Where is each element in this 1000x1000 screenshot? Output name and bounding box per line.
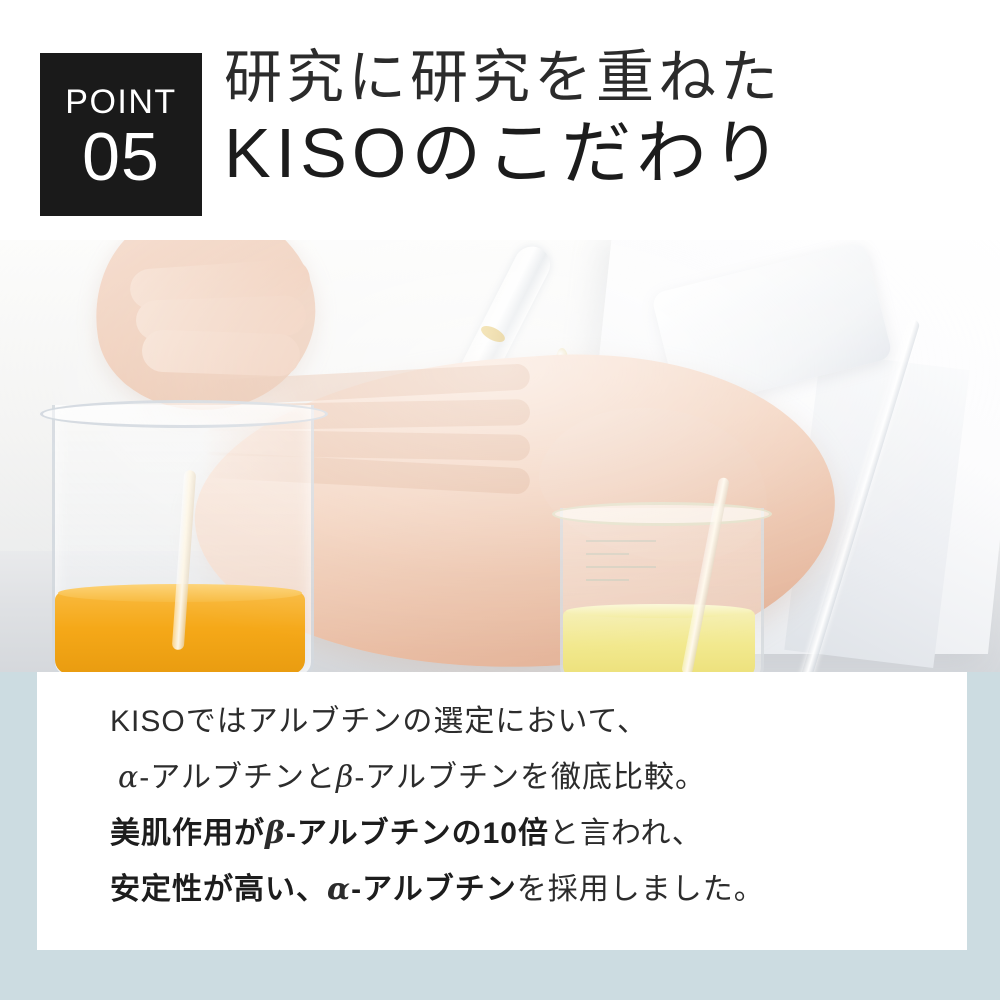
- point-05-promo-panel: POINT 05 研究に研究を重ねた KISOのこだわり: [0, 0, 1000, 1000]
- body-line-3-bold-mid: -アルブチンの10倍: [286, 817, 549, 850]
- body-line-3-tail: と言われ、: [549, 817, 703, 850]
- photo-scene: [0, 240, 1000, 672]
- body-copy: KISOではアルブチンの選定において、 α-アルブチンとβ-アルブチンを徹底比較…: [110, 694, 910, 918]
- body-line-2-tail: -アルブチンを徹底比較。: [354, 761, 706, 794]
- body-line-4-bold-mid: -アルブチン: [351, 873, 517, 906]
- alpha-symbol-line4: α: [327, 872, 351, 907]
- body-line-2: α-アルブチンとβ-アルブチンを徹底比較。: [110, 750, 910, 806]
- description-card: KISOではアルブチンの選定において、 α-アルブチンとβ-アルブチンを徹底比較…: [37, 672, 967, 950]
- page-title: 研究に研究を重ねた KISOのこだわり: [224, 46, 984, 193]
- headline-line-2: KISOのこだわり: [224, 113, 984, 194]
- right-beaker-yellow-liquid: [563, 610, 755, 672]
- body-line-3-bold-start: 美肌作用が: [110, 817, 265, 850]
- body-line-1: KISOではアルブチンの選定において、: [110, 694, 910, 750]
- right-beaker-liquid-surface: [566, 604, 752, 618]
- header: POINT 05 研究に研究を重ねた KISOのこだわり: [0, 0, 1000, 240]
- body-line-4: 安定性が高い、α-アルブチンを採用しました。: [110, 862, 910, 918]
- body-line-3: 美肌作用がβ-アルブチンの10倍と言われ、: [110, 806, 910, 862]
- left-beaker-rim: [40, 400, 328, 428]
- body-line-4-bold-start: 安定性が高い、: [110, 873, 327, 906]
- headline-line-1: 研究に研究を重ねた: [224, 46, 984, 111]
- point-badge-label: POINT: [65, 85, 176, 119]
- beta-symbol-line3: β: [265, 816, 286, 851]
- alpha-symbol-line2: α: [118, 760, 139, 795]
- body-line-4-tail: を採用しました。: [517, 873, 765, 906]
- right-beaker-graduation-marks: [586, 540, 656, 600]
- point-badge: POINT 05: [40, 53, 202, 216]
- body-line-2-mid: -アルブチンと: [139, 761, 336, 794]
- right-beaker-rim: [552, 502, 772, 526]
- point-badge-number: 05: [82, 123, 160, 191]
- lab-photo: [0, 240, 1000, 672]
- beta-symbol-line2: β: [336, 760, 354, 795]
